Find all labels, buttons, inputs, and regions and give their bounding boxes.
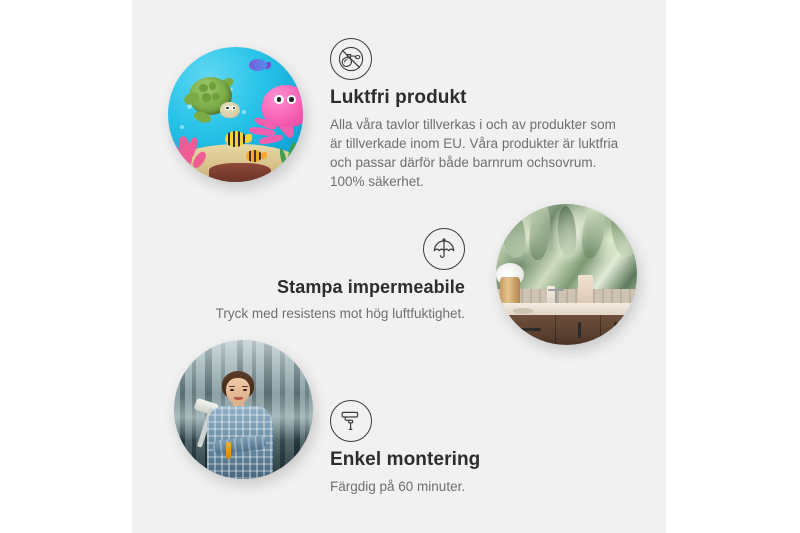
face	[226, 378, 250, 404]
leaf-motif	[607, 205, 637, 258]
photo-painter-forest-wallpaper[interactable]	[174, 340, 313, 479]
painter-scene	[174, 340, 313, 479]
fish-illustration	[225, 131, 247, 147]
fish-body	[246, 150, 262, 162]
turtle-eye	[231, 106, 236, 110]
umbrella-icon	[423, 228, 465, 270]
underwater-illustration	[168, 47, 303, 182]
turtle-head	[220, 102, 240, 119]
turtle-shell-scute	[202, 93, 211, 101]
cabinet-handle	[578, 322, 581, 338]
bathroom-scene	[496, 204, 637, 345]
feature-block-waterproof: Stampa impermeabile Tryck med resistens …	[190, 228, 465, 323]
leaf-motif	[579, 204, 608, 259]
octopus-eye	[287, 95, 297, 104]
octopus-illustration	[252, 85, 303, 153]
cabinet-handle	[614, 322, 617, 338]
leaf-motif	[498, 207, 527, 259]
feature-title: Stampa impermeabile	[190, 277, 465, 299]
feature-description: Alla våra tavlor tillverkas i och av pro…	[330, 115, 630, 192]
no-odor-spray-bottle-icon	[330, 38, 372, 80]
photo-underwater-kids-scene[interactable]	[168, 47, 303, 182]
octopus-arm	[258, 134, 283, 146]
fish-body	[225, 131, 247, 147]
vanity-seam	[555, 315, 556, 345]
feature-title: Luktfri produkt	[330, 87, 630, 110]
sea-rock	[209, 163, 271, 182]
soap-dish	[513, 308, 533, 314]
screenshot-stage: Luktfri produkt Alla våra tavlor tillver…	[0, 0, 800, 533]
turtle-shell-scute	[212, 93, 220, 101]
sea-turtle-illustration	[184, 77, 243, 126]
feature-description: Färgdig på 60 minuter.	[330, 477, 580, 496]
fish-illustration	[249, 59, 267, 71]
octopus-head	[262, 85, 303, 127]
feature-title: Enkel montering	[330, 449, 580, 472]
painter-woman	[202, 371, 283, 479]
fish-body	[249, 59, 267, 71]
octopus-eye	[274, 95, 284, 104]
leaf-motif	[527, 204, 552, 260]
vanity-seam	[600, 315, 601, 345]
fish-illustration	[246, 150, 262, 162]
paint-roller-icon	[330, 400, 372, 442]
feature-description: Tryck med resistens mot hög luftfuktighe…	[190, 304, 465, 323]
drawer-handle	[519, 328, 542, 331]
feature-block-odor-free: Luktfri produkt Alla våra tavlor tillver…	[330, 38, 630, 191]
turtle-eye	[225, 106, 230, 110]
feature-block-easy-installation: Enkel montering Färgdig på 60 minuter.	[330, 400, 580, 496]
tool-handle	[226, 442, 231, 459]
photo-bathroom-botanical-wallpaper[interactable]	[496, 204, 637, 345]
smile	[234, 397, 243, 400]
leaf-motif	[556, 205, 578, 258]
turtle-shell-scute	[199, 84, 208, 92]
turtle-shell-scute	[209, 82, 217, 90]
